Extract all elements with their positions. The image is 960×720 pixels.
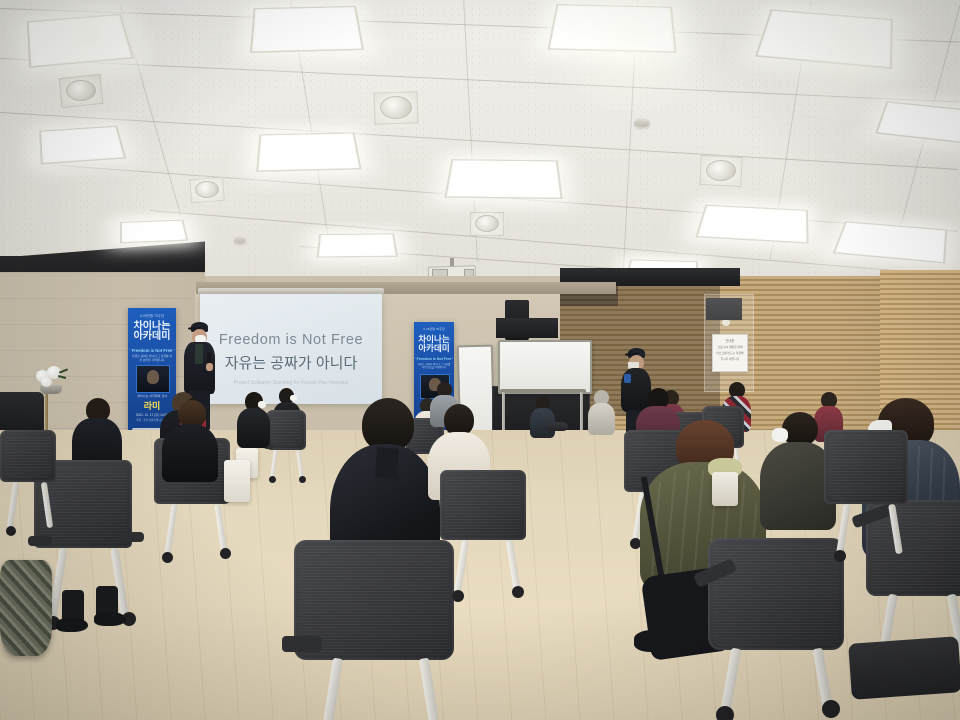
chair-backrest [440, 470, 526, 540]
ceiling-downlight [195, 181, 219, 198]
attendee [586, 390, 618, 440]
chair [436, 470, 532, 610]
chair [820, 430, 916, 566]
chair-leg [7, 482, 19, 528]
smoke-detector-icon [634, 118, 650, 127]
banner-top-label: 6·25전쟁 70주년 [128, 313, 176, 318]
banner-subtitle: 자유는 공짜가 아니다 그 자유를 지킨 분들을 기억합니다 [128, 355, 176, 363]
chair-castor [834, 550, 846, 562]
whiteboard [498, 340, 592, 394]
chair-leg [721, 648, 742, 713]
whiteboard-marker-tray [500, 389, 586, 393]
chair-leg [419, 658, 439, 720]
chair-leg [164, 504, 177, 556]
chair-castor [512, 586, 524, 598]
chair-armrest [282, 636, 322, 652]
chair-leg [41, 482, 53, 528]
piano-equipment [0, 392, 44, 432]
chair-leg [270, 450, 277, 478]
attendee-shoe [634, 630, 680, 652]
standing-attendee-lanyard [624, 374, 631, 383]
chair-castor [452, 590, 464, 602]
ceiling-downlight [66, 80, 96, 101]
attendee-shoe [94, 612, 126, 626]
ceiling-led-panel [250, 6, 364, 53]
attendee [162, 400, 218, 484]
chair-leg [888, 504, 903, 554]
attendee-shoe [56, 618, 88, 632]
screen-text-english: Freedom is Not Free [200, 332, 382, 348]
chair-leg [836, 504, 851, 554]
tote-bag [224, 460, 250, 502]
chair [0, 430, 70, 550]
attendee-face-mask [772, 428, 788, 442]
tote-bag [712, 472, 738, 506]
presenter-shirt [195, 344, 203, 364]
chair-leg [323, 658, 343, 720]
chair-leg [454, 540, 469, 594]
chair-writing-tablet [546, 422, 568, 431]
screen-text-korean: 자유는 공짜가 아니다 [200, 352, 382, 373]
ceiling-downlight [380, 96, 412, 119]
backpack[interactable] [0, 560, 52, 656]
flower-bloom [41, 377, 52, 387]
chair-backrest [0, 430, 56, 482]
chair-castor [822, 700, 840, 718]
ceiling-led-panel [39, 126, 126, 165]
chair-armrest [120, 532, 144, 542]
flower-stem [58, 375, 66, 379]
poster-frame-glass [704, 294, 754, 392]
banner-english-tagline: ‘ Freedom is Not Free ’ [414, 357, 454, 361]
attendee-head [782, 412, 818, 446]
chair-writing-tablet [848, 636, 960, 700]
lecture-hall-photo: Freedom is Not Free 자유는 공짜가 아니다 Project … [0, 0, 960, 720]
attendee [528, 396, 558, 442]
ceiling-led-panel [444, 159, 562, 199]
banner-heading: 차이나는 아카데미 [414, 335, 454, 352]
smoke-detector-icon [234, 236, 246, 243]
poster-lamp-icon [722, 320, 730, 326]
ceiling-downlight [706, 160, 736, 181]
banner-heading: 차이나는 아카데미 [128, 322, 176, 342]
chair-castor [299, 476, 306, 483]
chair-backrest [824, 430, 908, 504]
ceiling-led-panel [27, 14, 135, 68]
attendee-jacket [162, 424, 218, 482]
ceiling-led-panel [256, 132, 362, 172]
banner-top-label: 6·25전쟁 70주년 [414, 327, 454, 331]
attendee [236, 392, 272, 452]
flower-arrangement [34, 364, 70, 390]
chair-castor [220, 548, 231, 559]
attendee-jacket [237, 408, 270, 448]
chair-castor [716, 706, 734, 720]
banner-subtitle: 자유는 공짜가 아니다 그 자유를 지킨 분들을 기억합니다 [414, 363, 454, 370]
banner-english-tagline: ‘ Freedom is Not Free ’ [128, 348, 176, 353]
presenter-hand [206, 363, 213, 371]
chair-castor [6, 526, 16, 536]
ceiling-led-panel [317, 233, 398, 257]
banner-speaker-photo [136, 365, 170, 393]
ceiling-downlight [475, 215, 499, 232]
attendee-jacket [588, 403, 615, 435]
ceiling-led-panel [547, 4, 676, 53]
attendee-face-mask [290, 395, 297, 401]
tv-monitor [496, 318, 558, 338]
chair-castor [269, 476, 276, 483]
screen-text-caption: Project Solidarity Standing for Korean W… [200, 380, 382, 386]
chair-castor [162, 552, 173, 563]
ceiling-led-panel [695, 205, 808, 244]
attendee-face-mask [258, 401, 266, 408]
ceiling-led-panel [120, 220, 189, 244]
chair-leg [296, 450, 303, 478]
attendee-collar [375, 447, 399, 478]
